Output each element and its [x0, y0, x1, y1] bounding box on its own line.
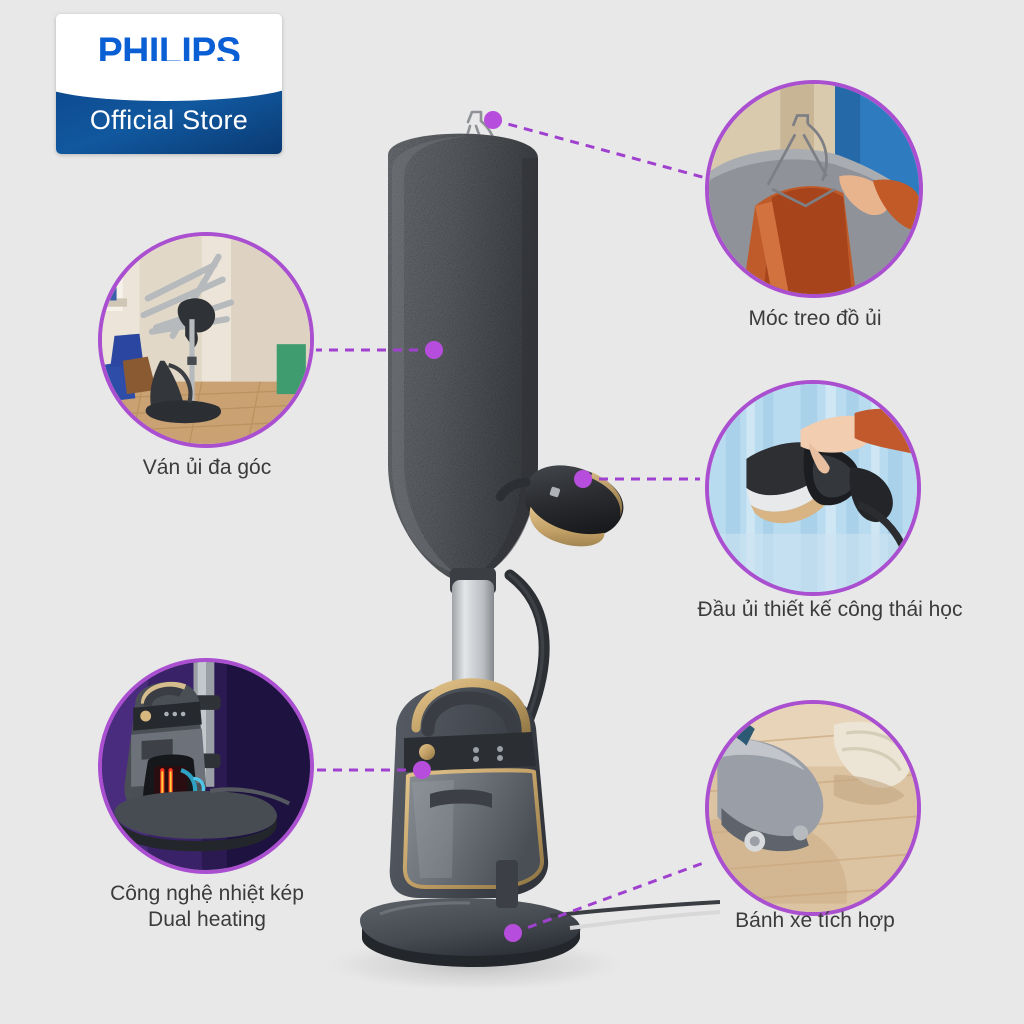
callout-dual-heating-label: Công nghệ nhiệt kép Dual heating: [42, 881, 372, 934]
callout-integrated-wheels-label: Bánh xe tích hợp: [660, 908, 970, 934]
callout-ergonomic-steam-head-photo: [705, 380, 921, 596]
callout-dual-heating-photo: [98, 658, 314, 874]
callout-ergonomic-steam-head-label: Đầu ủi thiết kế công thái học: [640, 597, 1020, 623]
callout-multi-angle-board-photo: [98, 232, 314, 448]
product-image: PHILIPS: [300, 60, 720, 1000]
official-store-panel: Official Store: [56, 87, 282, 154]
official-store-label: Official Store: [90, 105, 248, 136]
callout-integrated-wheels-photo: [705, 700, 921, 916]
philips-official-store-badge[interactable]: PHILIPS Official Store: [56, 14, 282, 154]
callout-multi-angle-board-label: Ván ủi đa góc: [52, 455, 362, 481]
callout-hanger-hook-photo: [705, 80, 923, 298]
callout-hanger-hook-label: Móc treo đồ ủi: [660, 306, 970, 332]
infographic-canvas: PHILIPS PHILIPS O: [0, 0, 1024, 1024]
